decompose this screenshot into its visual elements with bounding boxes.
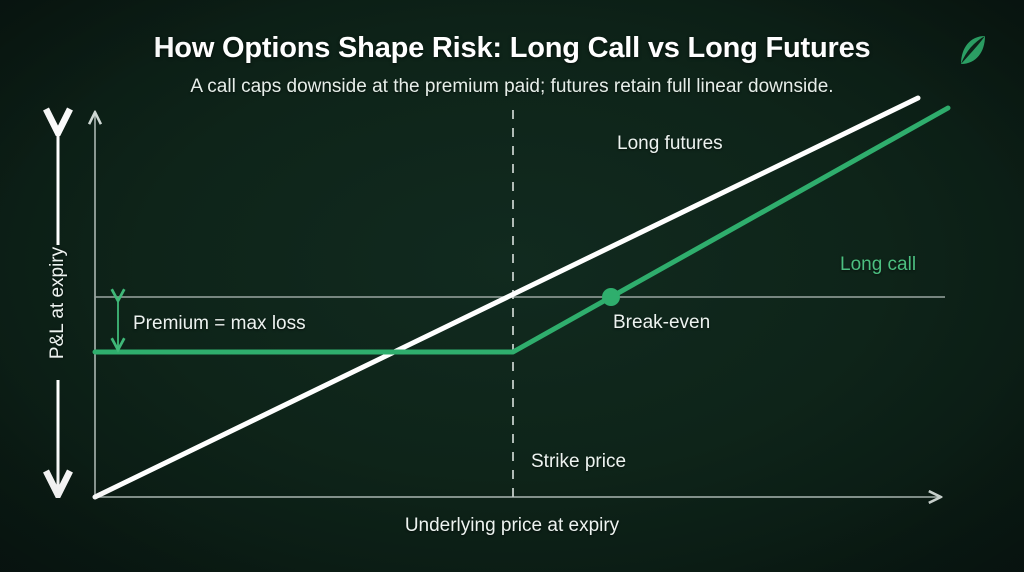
slide-canvas: How Options Shape Risk: Long Call vs Lon…: [0, 0, 1024, 572]
premium-max-loss-label: Premium = max loss: [133, 313, 306, 335]
break-even-point-marker: [602, 288, 620, 306]
break-even-label: Break-even: [613, 312, 710, 334]
chart-plot-area: [0, 0, 1024, 572]
strike-price-label: Strike price: [531, 451, 626, 473]
series-label-long-futures: Long futures: [617, 133, 723, 155]
y-axis-label: P&L at expiry: [47, 223, 69, 383]
x-axis-label: Underlying price at expiry: [0, 515, 1024, 537]
series-label-long-call: Long call: [840, 254, 916, 276]
